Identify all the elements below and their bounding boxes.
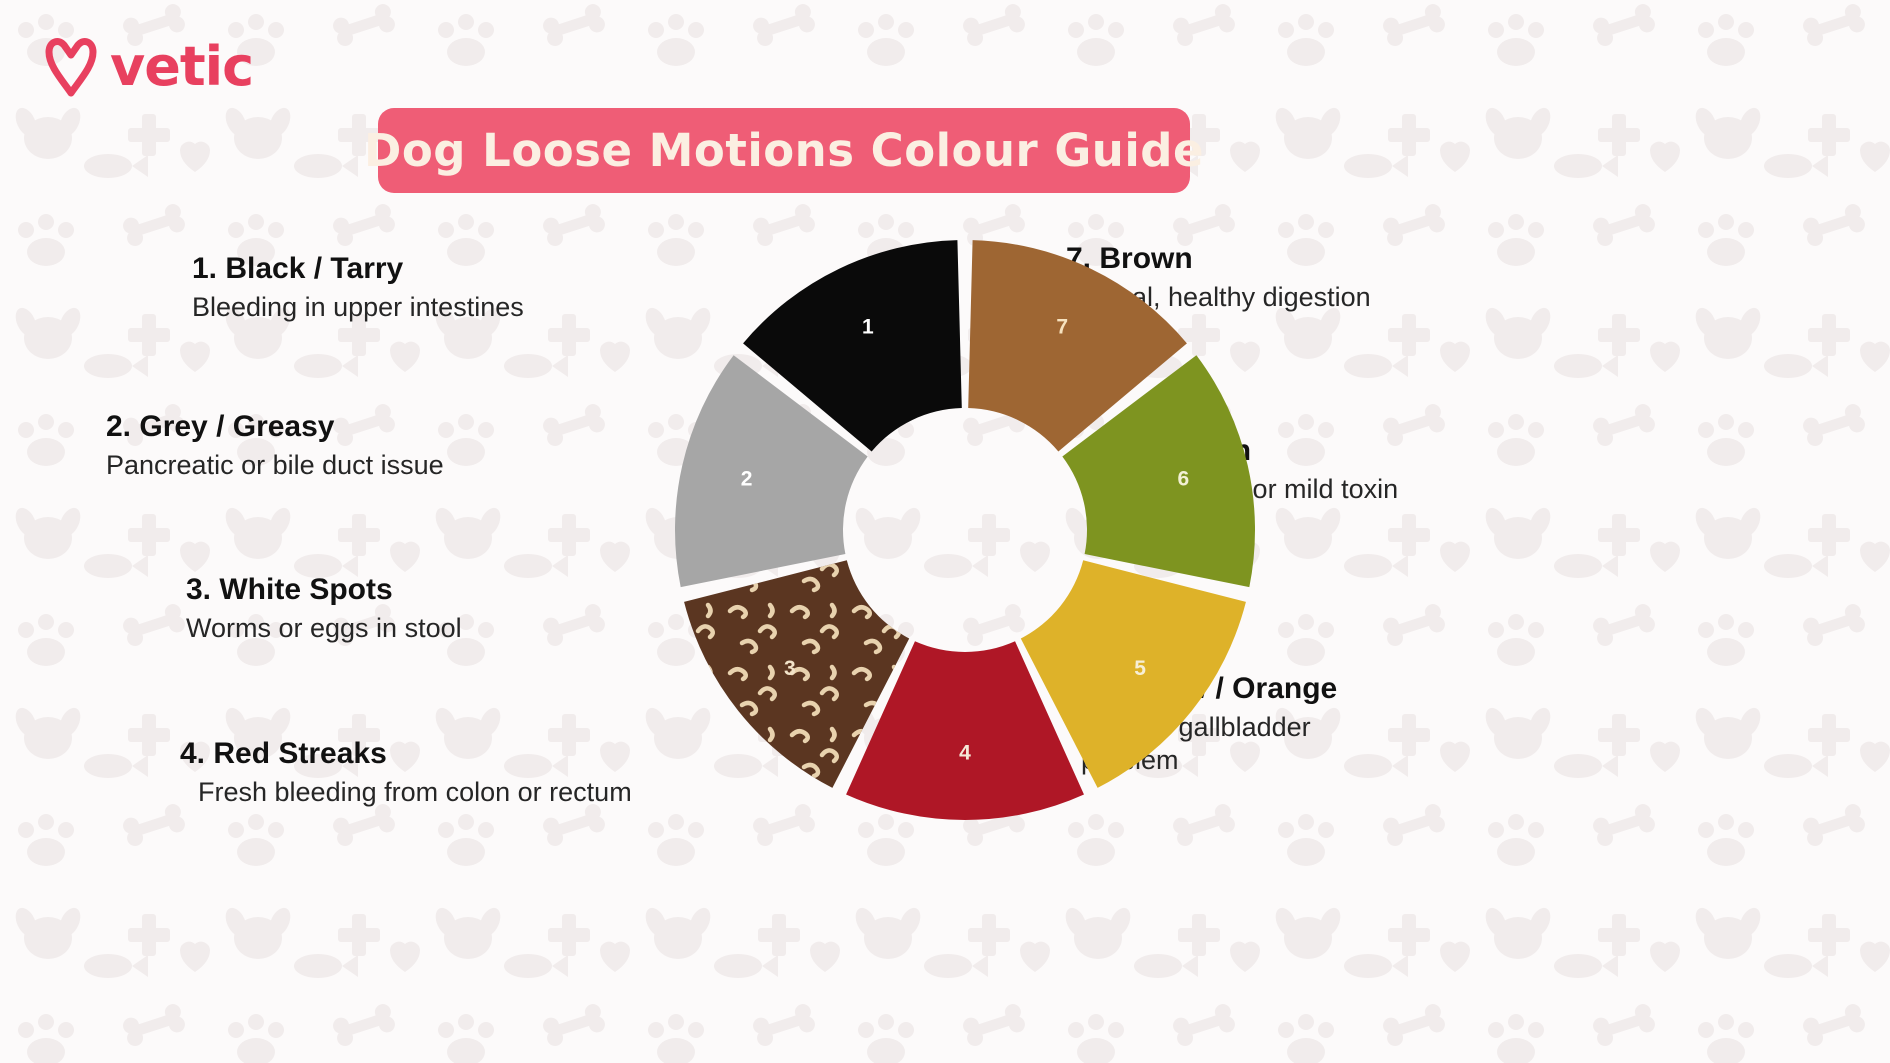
donut-segment-label-4: 4 (959, 742, 971, 765)
legend-item-4-title: 4. Red Streaks (180, 737, 632, 772)
donut-chart-svg: 1234567 (660, 225, 1270, 835)
legend-item-1-description: Bleeding in upper intestines (192, 291, 524, 324)
legend-item-2-title: 2. Grey / Greasy (106, 410, 444, 445)
title-banner: Dog Loose Motions Colour Guide (378, 108, 1190, 193)
legend-item-3-description: Worms or eggs in stool (186, 612, 462, 645)
legend-item-2-grey-greasy: 2. Grey / Greasy Pancreatic or bile duct… (106, 410, 444, 482)
legend-item-1-title: 1. Black / Tarry (192, 252, 524, 287)
vetic-logo[interactable]: vetic (42, 36, 253, 98)
vetic-wordmark: vetic (110, 40, 253, 94)
page-title: Dog Loose Motions Colour Guide (364, 124, 1204, 177)
legend-item-2-description: Pancreatic or bile duct issue (106, 449, 444, 482)
legend-item-3-white-spots: 3. White Spots Worms or eggs in stool (186, 573, 462, 645)
donut-segment-label-1: 1 (862, 316, 874, 339)
vetic-heart-logo-icon (42, 36, 100, 98)
donut-segment-label-2: 2 (741, 468, 753, 491)
legend-item-3-title: 3. White Spots (186, 573, 462, 608)
donut-segment-label-7: 7 (1056, 316, 1068, 339)
donut-segment-label-6: 6 (1178, 468, 1190, 491)
donut-segment-label-3: 3 (784, 657, 796, 680)
legend-item-1-black-tarry: 1. Black / Tarry Bleeding in upper intes… (192, 252, 524, 324)
legend-item-4-red-streaks: 4. Red Streaks Fresh bleeding from colon… (180, 737, 632, 809)
donut-segment-label-5: 5 (1134, 657, 1146, 680)
legend-item-4-description: Fresh bleeding from colon or rectum (198, 776, 632, 809)
donut-chart: 1234567 (660, 225, 1270, 835)
